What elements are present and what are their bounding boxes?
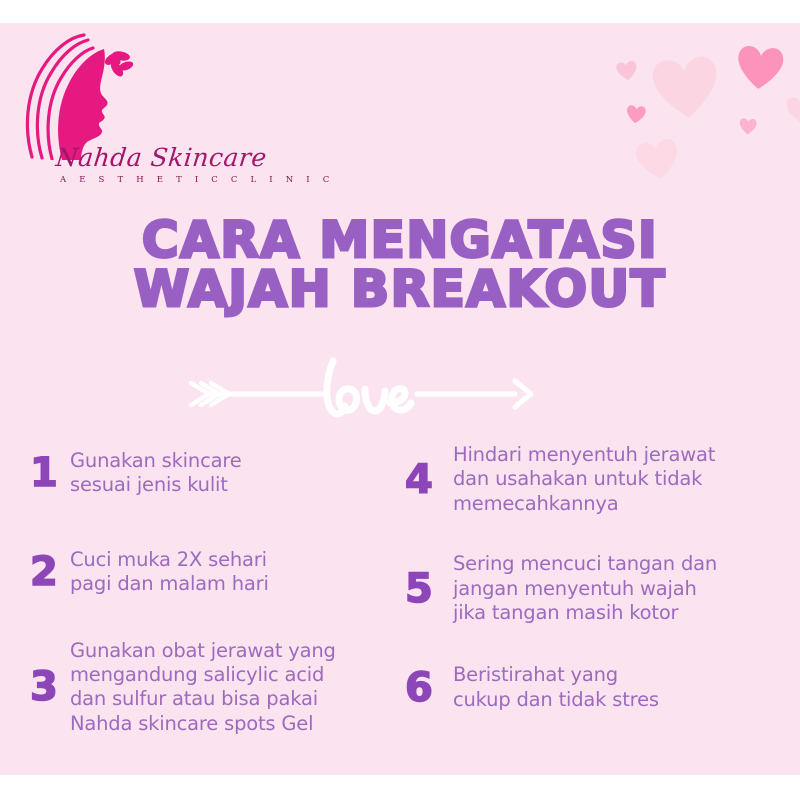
brand-name: Nahda Skincare (54, 143, 277, 172)
tip-number: 5 (405, 569, 453, 609)
tip-text-line: Cuci muka 2X sehari (70, 548, 269, 572)
tip-text: Cuci muka 2X seharipagi dan malam hari (70, 548, 269, 597)
heart-icon (633, 135, 684, 184)
tip-text-line: dan usahakan untuk tidak (453, 467, 715, 491)
page-title: CARA MENGATASI WAJAH BREAKOUT (0, 216, 800, 314)
tip-text-line: Gunakan obat jerawat yang (70, 639, 336, 663)
bottom-white-band (0, 775, 800, 800)
tip-item: 4Hindari menyentuh jerawatdan usahakan u… (405, 443, 785, 516)
tip-text-line: Hindari menyentuh jerawat (453, 443, 715, 467)
tip-text-line: Beristirahat yang (453, 663, 659, 687)
brand-tagline: A E S T H E T I C C L I N I C (60, 175, 270, 185)
title-line-1: CARA MENGATASI (0, 216, 800, 265)
tip-text-line: jangan menyentuh wajah (453, 577, 717, 601)
tip-text-line: jika tangan masih kotor (453, 601, 717, 625)
heart-icon (649, 52, 724, 125)
heart-icon (738, 117, 757, 135)
tip-number: 6 (405, 668, 453, 708)
poster-canvas: Nahda Skincare A E S T H E T I C C L I N… (0, 23, 800, 775)
tip-text: Gunakan skincaresesuai jenis kulit (70, 449, 242, 498)
tip-text: Beristirahat yangcukup dan tidak stres (453, 663, 659, 712)
tip-text-line: cukup dan tidak stres (453, 688, 659, 712)
heart-icon (785, 94, 800, 126)
love-divider (185, 353, 545, 425)
tip-item: 6Beristirahat yangcukup dan tidak stres (405, 663, 785, 712)
tip-text: Gunakan obat jerawat yangmengandung sali… (70, 639, 336, 737)
tip-text-line: sesuai jenis kulit (70, 473, 242, 497)
tip-text-line: Gunakan skincare (70, 449, 242, 473)
heart-icon (734, 43, 786, 93)
brand-logo: Nahda Skincare A E S T H E T I C C L I N… (8, 25, 278, 205)
tips-column-left: 1Gunakan skincaresesuai jenis kulit2Cuci… (30, 443, 400, 736)
tip-text-line: Sering mencuci tangan dan (453, 552, 717, 576)
heart-icon (625, 104, 647, 125)
infographic-poster: Nahda Skincare A E S T H E T I C C L I N… (0, 0, 800, 800)
tip-text-line: dan sulfur atau bisa pakai (70, 687, 336, 711)
tip-item: 2Cuci muka 2X seharipagi dan malam hari (30, 548, 400, 597)
tip-text-line: memecahkannya (453, 492, 715, 516)
tips-column-right: 4Hindari menyentuh jerawatdan usahakan u… (405, 443, 785, 712)
tip-number: 3 (30, 667, 70, 707)
tip-text-line: pagi dan malam hari (70, 572, 269, 596)
tip-item: 3Gunakan obat jerawat yangmengandung sal… (30, 639, 400, 737)
tip-text: Hindari menyentuh jerawatdan usahakan un… (453, 443, 715, 516)
tip-text-line: Nahda skincare spots Gel (70, 712, 336, 736)
heart-icon (615, 60, 640, 83)
tip-item: 1Gunakan skincaresesuai jenis kulit (30, 449, 400, 498)
title-line-2: WAJAH BREAKOUT (0, 265, 800, 314)
tip-number: 2 (30, 552, 70, 592)
tip-number: 1 (30, 453, 70, 493)
tip-item: 5Sering mencuci tangan danjangan menyent… (405, 552, 785, 625)
woman-silhouette-icon (16, 25, 136, 160)
tip-text-line: mengandung salicylic acid (70, 663, 336, 687)
tip-text: Sering mencuci tangan danjangan menyentu… (453, 552, 717, 625)
top-white-band (0, 0, 800, 23)
tip-number: 4 (405, 460, 453, 500)
